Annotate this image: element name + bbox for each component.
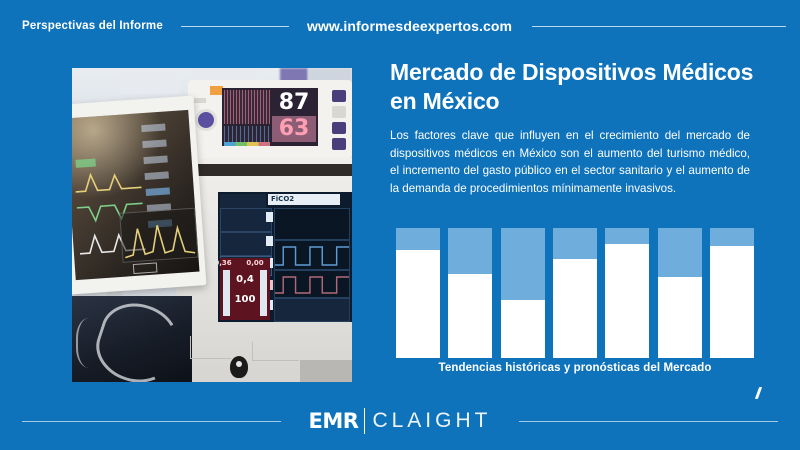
- header-label: Perspectivas del Informe: [22, 20, 163, 32]
- chart-bar-3: [501, 228, 545, 358]
- logo-accent-mark-icon: [755, 387, 762, 399]
- footer-divider-left: [22, 421, 281, 422]
- ventilator-panel-2: [220, 232, 272, 256]
- chart-bar-3-top: [501, 228, 545, 300]
- patient-monitor-screen: [72, 110, 199, 280]
- chart-bar-2: [448, 228, 492, 358]
- chart-bar-5: [605, 228, 649, 358]
- waveform-trend: [120, 209, 197, 262]
- chart-bar-6-base: [658, 277, 702, 358]
- header-divider-right: [532, 26, 786, 27]
- chart-bar-6-top: [658, 228, 702, 277]
- logo-emr-text: EMR: [309, 409, 359, 433]
- logo-claight-text: CLAIGHT: [372, 409, 491, 433]
- monitor-knob: [198, 112, 214, 128]
- intro-paragraph: Los factores clave que influyen en el cr…: [390, 127, 750, 197]
- header-website-url[interactable]: www.informesdeexpertos.com: [307, 18, 512, 34]
- vitals-reading-bottom: 63: [272, 116, 316, 142]
- chart-bar-3-base: [501, 300, 545, 359]
- chart-bar-4-top: [553, 228, 597, 259]
- header-divider-left: [181, 26, 289, 27]
- machine-knob: [230, 356, 248, 378]
- waveform-square-2: [275, 271, 349, 297]
- patient-monitor-left: [72, 95, 206, 294]
- machine-label-plate: [300, 360, 352, 382]
- ventilator-readout-block: 0,36 0,00 0,4 100: [220, 258, 270, 320]
- ventilator-screen: FiCO2: [218, 192, 352, 322]
- ventilator-gauge-right: [260, 270, 267, 316]
- screen-chip-5: [146, 187, 170, 196]
- chart-bar-2-base: [448, 274, 492, 359]
- machine-outline-2: [252, 342, 299, 361]
- screen-chip-4: [145, 171, 169, 180]
- logo-divider: [364, 408, 365, 434]
- monitor-button-4: [332, 138, 346, 150]
- medical-equipment-photo: 87 63 FiCO2: [72, 68, 352, 382]
- chart-bar-5-base: [605, 244, 649, 358]
- ventilator-value-left: 0,36: [218, 259, 238, 267]
- photo-bg-block-a: [120, 72, 180, 94]
- ventilator-mode-label: FiCO2: [268, 194, 340, 205]
- ventilator-value-right: 0,00: [240, 259, 270, 267]
- footer-bar: EMR CLAIGHT: [0, 392, 800, 450]
- machine-outline-1: [190, 336, 231, 359]
- screen-button: [133, 262, 158, 274]
- slide-root: Perspectivas del Informe www.informesdee…: [0, 0, 800, 450]
- market-trends-chart: [396, 228, 754, 358]
- screen-chip-1: [141, 124, 165, 133]
- monitor-button-3: [332, 122, 346, 134]
- chart-bar-1: [396, 228, 440, 358]
- ventilator-panel-bottom: [274, 298, 350, 322]
- waveform-yellow: [74, 167, 141, 194]
- ventilator-gauge-left: [223, 270, 230, 316]
- ecg-trace-upper: [224, 90, 270, 124]
- monitor-button-1: [332, 90, 346, 102]
- chart-bar-1-top: [396, 228, 440, 250]
- photo-cable-strand: [76, 318, 108, 368]
- chart-bar-2-top: [448, 228, 492, 274]
- ecg-trace-lower: [224, 126, 270, 142]
- monitor-color-strip: [224, 142, 270, 146]
- machine-vent-slot: [176, 164, 352, 176]
- footer-divider-right: [519, 421, 778, 422]
- chart-caption: Tendencias históricas y pronósticas del …: [390, 362, 760, 374]
- chart-bar-7-base: [710, 246, 754, 358]
- screen-chip-2: [142, 139, 166, 148]
- ventilator-tick-1: [266, 212, 273, 222]
- vitals-reading-top: 87: [272, 89, 316, 116]
- chart-bar-4: [553, 228, 597, 358]
- page-title: Mercado de Dispositivos Médicos en Méxic…: [390, 58, 758, 116]
- screen-trend-box: [119, 208, 198, 263]
- vital-signs-monitor: 87 63: [188, 80, 352, 158]
- chart-bar-4-base: [553, 259, 597, 358]
- screen-green-label: [75, 158, 96, 167]
- monitor-screen: 87 63: [222, 88, 318, 146]
- ventilator-panel-1: [220, 208, 272, 232]
- photo-canvas: 87 63 FiCO2: [72, 68, 352, 382]
- header-bar: Perspectivas del Informe www.informesdee…: [0, 0, 800, 52]
- ventilator-plot-2: [274, 240, 350, 270]
- waveform-square-1: [275, 241, 349, 269]
- monitor-button-2: [332, 106, 346, 118]
- chart-bar-5-top: [605, 228, 649, 244]
- chart-bar-7-top: [710, 228, 754, 246]
- screen-chip-3: [143, 155, 167, 164]
- ventilator-plot-1: [274, 208, 350, 240]
- chart-bar-7: [710, 228, 754, 358]
- content-column: Mercado de Dispositivos Médicos en Méxic…: [390, 58, 758, 197]
- chart-bar-1-base: [396, 250, 440, 358]
- ventilator-status-box: [220, 194, 266, 208]
- brand-logo[interactable]: EMR CLAIGHT: [309, 408, 492, 434]
- chart-bar-6: [658, 228, 702, 358]
- ventilator-plot-3: [274, 270, 350, 298]
- monitor-tab: [194, 98, 206, 103]
- ventilator-tick-2: [266, 236, 273, 246]
